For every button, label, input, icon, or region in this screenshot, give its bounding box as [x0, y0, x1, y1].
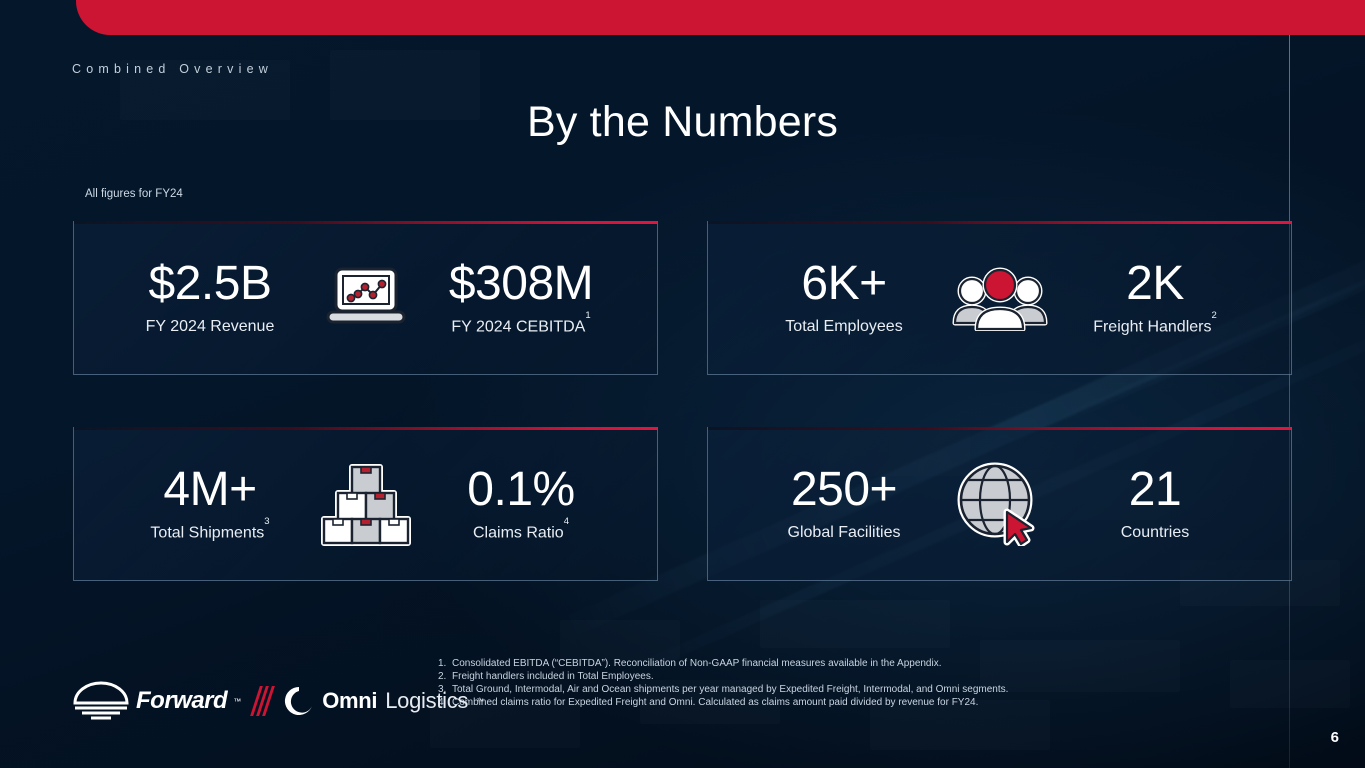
omni-wordmark: Omni	[322, 688, 377, 714]
top-red-banner	[76, 0, 1365, 35]
footnotes-block: 1.Consolidated EBITDA (“CEBITDA”). Recon…	[438, 657, 1008, 709]
stat-value: 250+	[744, 465, 944, 515]
stat-label: Countries	[1055, 524, 1255, 542]
footnote-item: 1.Consolidated EBITDA (“CEBITDA”). Recon…	[438, 657, 1008, 670]
stat-value: $308M	[421, 259, 621, 309]
stat-total-shipments: 4M+ Total Shipments3	[110, 465, 310, 543]
forward-logo: Forward ™	[72, 681, 241, 721]
page-number: 6	[1331, 729, 1339, 746]
stat-value: 0.1%	[421, 465, 621, 515]
stat-label: FY 2024 Revenue	[110, 318, 310, 336]
stat-countries: 21 Countries	[1055, 465, 1255, 541]
stat-value: 2K	[1055, 259, 1255, 309]
omni-swoosh-icon	[284, 686, 314, 716]
footnote-marker: 2	[1211, 310, 1216, 321]
stat-card-revenue-cebitda: $2.5B FY 2024 Revenue $308M FY	[73, 221, 658, 375]
laptop-chart-icon	[311, 265, 421, 331]
footnote-marker: 1	[585, 310, 590, 321]
stat-value: 4M+	[110, 465, 310, 515]
stat-claims-ratio: 0.1% Claims Ratio4	[421, 465, 621, 543]
stat-revenue: $2.5B FY 2024 Revenue	[110, 259, 310, 335]
footnote-item: 2.Freight handlers included in Total Emp…	[438, 670, 1008, 683]
stat-value: 6K+	[744, 259, 944, 309]
people-group-icon	[945, 265, 1055, 331]
footnote-item: 4.Combined claims ratio for Expedited Fr…	[438, 696, 1008, 709]
footnote-marker: 4	[564, 516, 569, 527]
eyebrow-label: Combined Overview	[72, 62, 273, 76]
stat-label: FY 2024 CEBITDA1	[421, 317, 621, 336]
page-title: By the Numbers	[0, 98, 1365, 147]
forward-arc-icon	[72, 681, 130, 721]
logo-divider-slashes	[255, 686, 270, 716]
stat-card-employees-handlers: 6K+ Total Employees	[707, 221, 1292, 375]
footnote-marker: 3	[264, 516, 269, 527]
omni-subword: Logistics	[385, 688, 468, 714]
forward-wordmark: Forward	[136, 687, 227, 715]
stat-total-employees: 6K+ Total Employees	[744, 259, 944, 335]
all-figures-note: All figures for FY24	[85, 188, 183, 200]
stat-label: Total Shipments3	[110, 523, 310, 542]
omni-tm: ™	[476, 697, 484, 706]
stat-label: Global Facilities	[744, 524, 944, 542]
stat-card-shipments-claims: 4M+ Total Shipments3	[73, 427, 658, 581]
stat-global-facilities: 250+ Global Facilities	[744, 465, 944, 541]
bg-texture-block	[1230, 660, 1350, 708]
stat-value: 21	[1055, 465, 1255, 515]
stat-value: $2.5B	[110, 259, 310, 309]
stat-freight-handlers: 2K Freight Handlers2	[1055, 259, 1255, 337]
logo-lockup: Forward ™ Omni Logistics ™	[72, 681, 484, 721]
forward-tm: ™	[233, 697, 241, 706]
stat-label: Total Employees	[744, 318, 944, 336]
stat-label: Claims Ratio4	[421, 523, 621, 542]
omni-logo: Omni Logistics ™	[284, 686, 484, 716]
stat-cebitda: $308M FY 2024 CEBITDA1	[421, 259, 621, 337]
stacked-boxes-icon	[311, 461, 421, 547]
footnote-item: 3.Total Ground, Intermodal, Air and Ocea…	[438, 683, 1008, 696]
stat-label: Freight Handlers2	[1055, 317, 1255, 336]
slide-canvas: Combined Overview By the Numbers All fig…	[0, 0, 1365, 768]
bg-texture-block	[980, 640, 1180, 692]
globe-cursor-icon	[945, 462, 1055, 546]
stat-card-facilities-countries: 250+ Global Facilities 21 Countries	[707, 427, 1292, 581]
